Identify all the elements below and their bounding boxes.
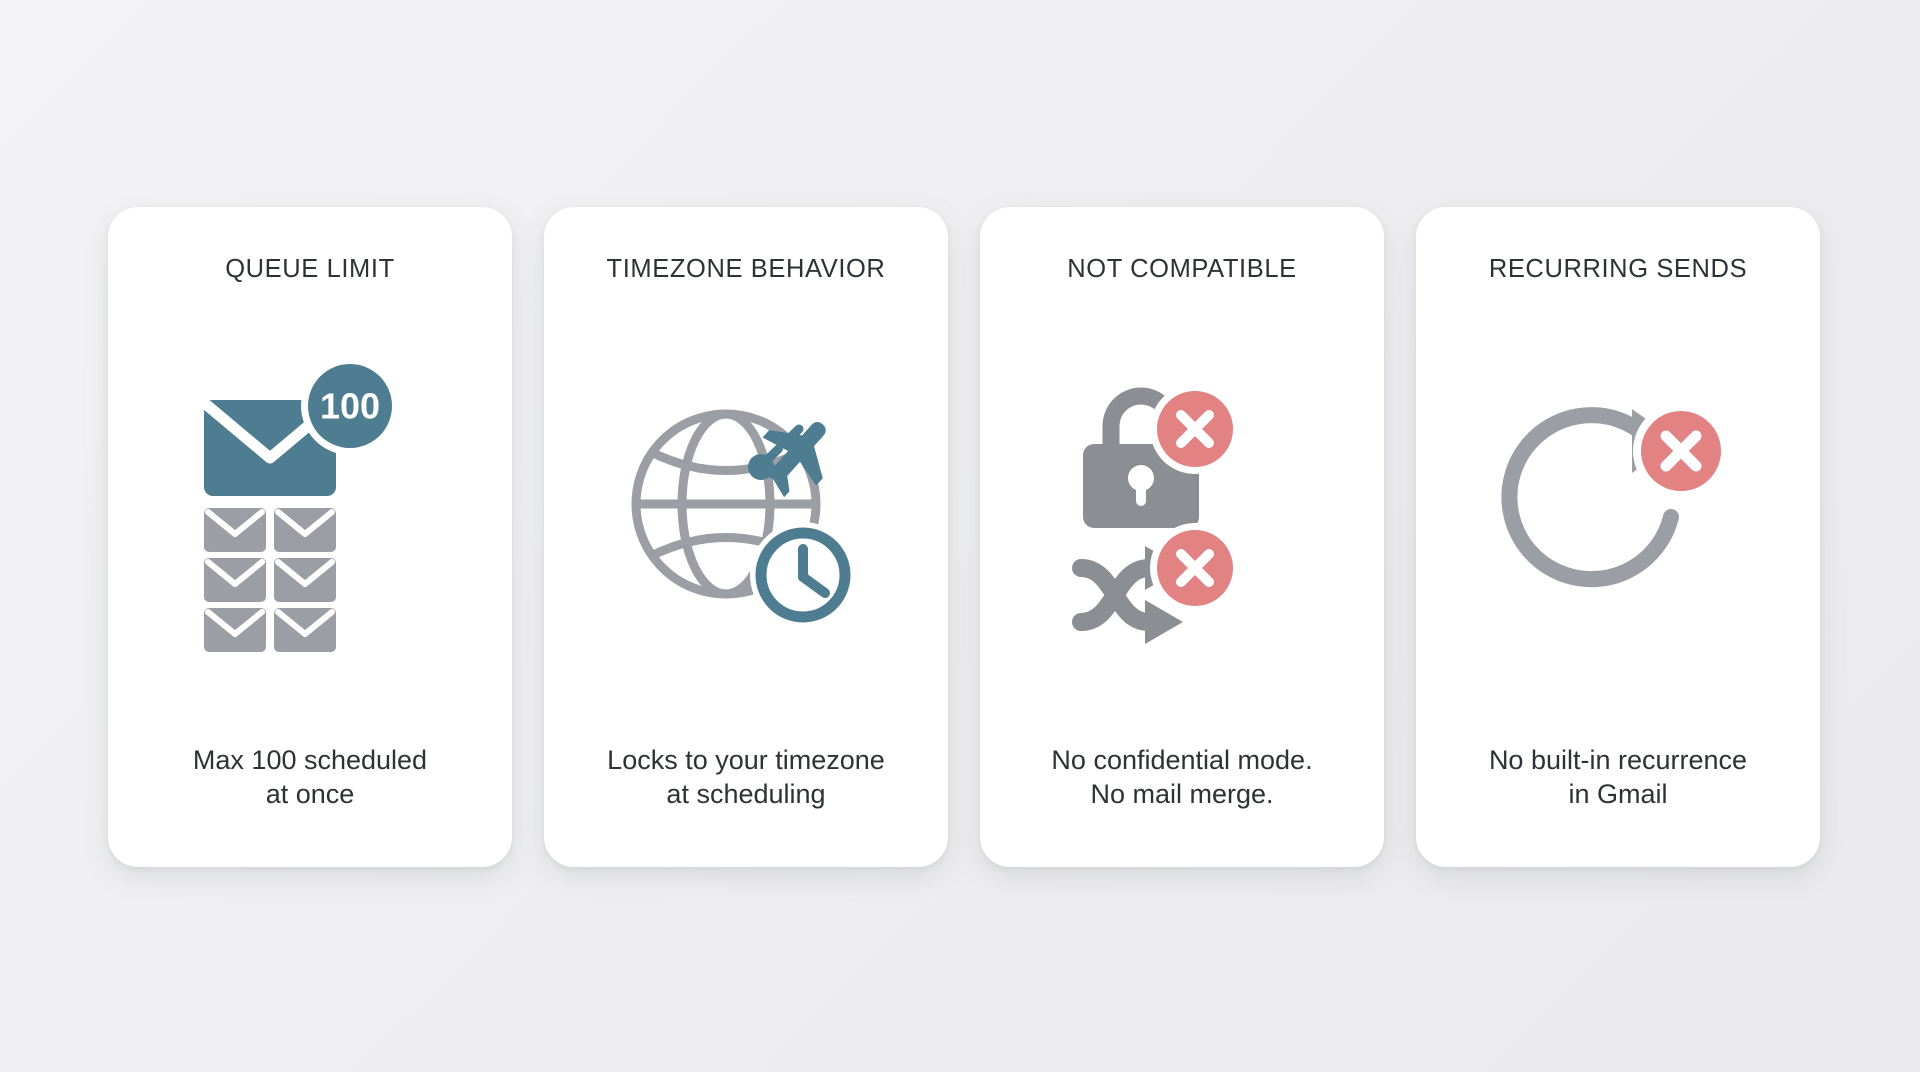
card-not-compatible[interactable]: NOT COMPATIBLE bbox=[980, 207, 1384, 867]
blocked-badge-shuffle bbox=[1150, 523, 1240, 613]
card-body-line-2: at once bbox=[193, 778, 427, 811]
card-body: No built-in recurrence in Gmail bbox=[1489, 744, 1747, 811]
card-title: NOT COMPATIBLE bbox=[1067, 255, 1296, 283]
blocked-badge-recurring bbox=[1633, 403, 1729, 499]
queued-envelope bbox=[204, 508, 266, 552]
card-body-line-2: in Gmail bbox=[1489, 778, 1747, 811]
card-body-line-1: Locks to your timezone bbox=[607, 744, 885, 777]
badge-count-label: 100 bbox=[320, 385, 380, 426]
queued-envelope bbox=[274, 508, 336, 552]
loop-arrow-blocked-icon bbox=[1493, 399, 1743, 629]
card-body: Max 100 scheduled at once bbox=[193, 744, 427, 811]
card-title: RECURRING SENDS bbox=[1489, 255, 1747, 283]
envelope-stack-badge-icon: 100 bbox=[190, 364, 430, 664]
card-title: QUEUE LIMIT bbox=[225, 255, 395, 283]
card-body-line-2: at scheduling bbox=[607, 778, 885, 811]
queued-envelope bbox=[274, 608, 336, 652]
card-timezone-behavior[interactable]: TIMEZONE BEHAVIOR bbox=[544, 207, 948, 867]
card-artwork bbox=[568, 283, 924, 744]
card-body: No confidential mode. No mail merge. bbox=[1051, 744, 1312, 811]
clock-icon bbox=[750, 522, 856, 628]
lock-shuffle-blocked-icon bbox=[1067, 374, 1297, 654]
card-row: QUEUE LIMIT 100 bbox=[108, 207, 1820, 867]
card-body: Locks to your timezone at scheduling bbox=[607, 744, 885, 811]
card-title: TIMEZONE BEHAVIOR bbox=[607, 255, 886, 283]
queued-envelope-grid bbox=[204, 508, 336, 652]
blocked-badge-lock bbox=[1150, 384, 1240, 474]
queued-envelope bbox=[204, 608, 266, 652]
queued-envelope bbox=[274, 558, 336, 602]
shuffle-icon bbox=[1081, 568, 1149, 622]
card-body-line-1: Max 100 scheduled bbox=[193, 744, 427, 777]
globe-plane-clock-icon bbox=[621, 389, 871, 639]
card-artwork: 100 bbox=[132, 283, 488, 744]
card-body-line-2: No mail merge. bbox=[1051, 778, 1312, 811]
infographic-canvas: QUEUE LIMIT 100 bbox=[0, 0, 1920, 1072]
queued-envelope bbox=[204, 558, 266, 602]
card-body-line-1: No built-in recurrence bbox=[1489, 744, 1747, 777]
card-recurring-sends[interactable]: RECURRING SENDS No bui bbox=[1416, 207, 1820, 867]
card-artwork bbox=[1004, 283, 1360, 744]
card-artwork bbox=[1440, 283, 1796, 744]
card-queue-limit[interactable]: QUEUE LIMIT 100 bbox=[108, 207, 512, 867]
card-body-line-1: No confidential mode. bbox=[1051, 744, 1312, 777]
